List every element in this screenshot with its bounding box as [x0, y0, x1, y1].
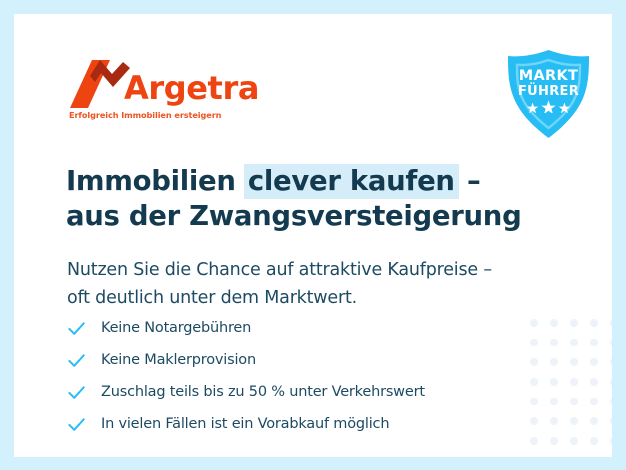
dot [610, 319, 612, 327]
headline-highlight: clever kaufen [244, 164, 459, 199]
banner-card: Argetra Erfolgreich Immobilien ersteiger… [14, 14, 612, 457]
dot [590, 437, 598, 445]
headline-line-1: Immobilien clever kaufen – [66, 164, 566, 199]
dot [610, 398, 612, 406]
dot [590, 378, 598, 386]
dot [550, 398, 558, 406]
dot [590, 339, 598, 347]
headline-line-2: aus der Zwangsversteigerung [66, 199, 566, 234]
dot [610, 339, 612, 347]
dot [590, 398, 598, 406]
dot [610, 437, 612, 445]
list-item: Zuschlag teils bis zu 50 % unter Verkehr… [67, 376, 537, 408]
badge-line-2: FÜHRER [503, 85, 594, 98]
logo-tagline: Erfolgreich Immobilien ersteigern [69, 110, 221, 120]
list-item: Keine Maklerprovision [67, 344, 537, 376]
check-icon [67, 319, 86, 338]
benefit-label: Keine Maklerprovision [101, 352, 256, 368]
dot [570, 378, 578, 386]
promo-banner: Argetra Erfolgreich Immobilien ersteiger… [0, 0, 626, 470]
dot [610, 417, 612, 425]
benefit-label: Zuschlag teils bis zu 50 % unter Verkehr… [101, 384, 425, 400]
dot [570, 398, 578, 406]
dot-row [530, 378, 612, 386]
logo-wordmark: Argetra [124, 72, 259, 104]
dot [590, 417, 598, 425]
dot [570, 319, 578, 327]
subheadline-line-2: oft deutlich unter dem Marktwert. [67, 284, 587, 312]
dot-grid-pattern [530, 319, 612, 457]
dot [550, 339, 558, 347]
benefit-label: Keine Notargebühren [101, 320, 251, 336]
dot [570, 417, 578, 425]
market-leader-badge: MARKT FÜHRER [503, 47, 594, 141]
dot-row [530, 339, 612, 347]
dot [570, 358, 578, 366]
headline-text-after: – [458, 165, 481, 197]
list-item: In vielen Fällen ist ein Vorabkauf mögli… [67, 408, 537, 440]
dot [550, 378, 558, 386]
check-icon [67, 415, 86, 434]
subheadline-line-1: Nutzen Sie die Chance auf attraktive Kau… [67, 256, 587, 284]
brand-logo[interactable]: Argetra Erfolgreich Immobilien ersteiger… [68, 58, 328, 122]
subheadline: Nutzen Sie die Chance auf attraktive Kau… [67, 256, 587, 312]
dot [570, 339, 578, 347]
badge-line-1: MARKT [503, 69, 594, 84]
dot [550, 358, 558, 366]
dot [550, 319, 558, 327]
headline-text-before: Immobilien [66, 165, 245, 197]
dot-row [530, 437, 612, 445]
dot [590, 358, 598, 366]
dot [610, 358, 612, 366]
benefits-list: Keine Notargebühren Keine Maklerprovisio… [67, 312, 537, 440]
three-stars-icon [525, 100, 572, 113]
check-icon [67, 383, 86, 402]
dot [610, 378, 612, 386]
benefit-label: In vielen Fällen ist ein Vorabkauf mögli… [101, 416, 389, 432]
check-icon [67, 351, 86, 370]
headline: Immobilien clever kaufen – aus der Zwang… [66, 164, 566, 234]
dot-row [530, 358, 612, 366]
dot [550, 437, 558, 445]
badge-stars [503, 100, 594, 118]
argetra-a-roof-mark [68, 58, 132, 108]
list-item: Keine Notargebühren [67, 312, 537, 344]
dot-row [530, 319, 612, 327]
dot [550, 417, 558, 425]
dot [590, 319, 598, 327]
dot-row [530, 398, 612, 406]
dot [570, 437, 578, 445]
dot-row [530, 417, 612, 425]
